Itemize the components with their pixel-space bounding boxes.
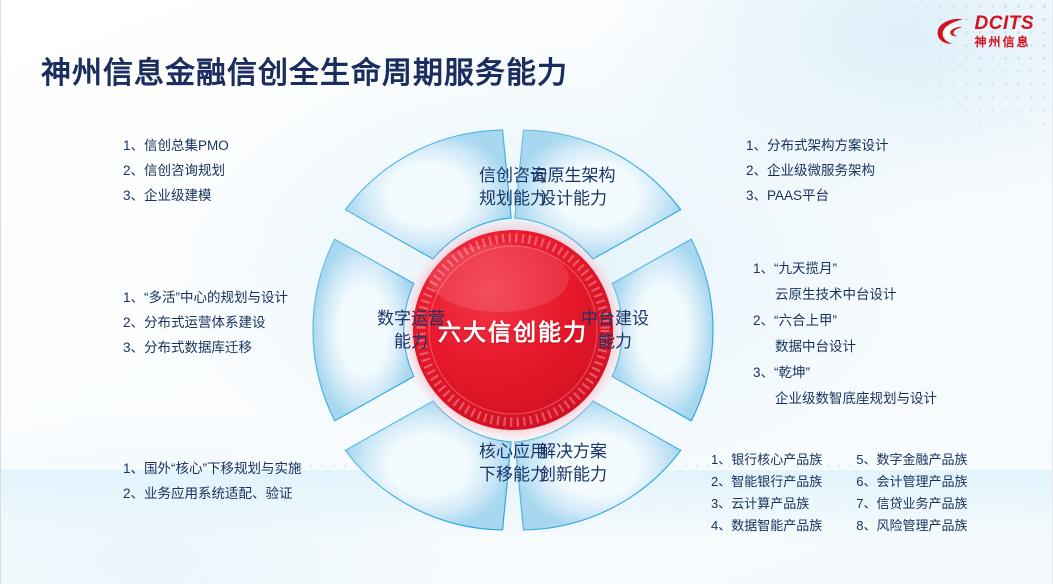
- list-item: 2、“六合上甲”: [753, 308, 937, 334]
- six-capabilities-donut-diagram: 信创咨询 规划能力 云原生架构 设计能力 中台建设 能力 解决方案 创新能力 核…: [303, 120, 723, 540]
- list-item: 2、分布式运营体系建设: [123, 310, 288, 335]
- list-item-sub: 数据中台设计: [753, 334, 937, 360]
- list-item: 7、信贷业务产品族: [856, 493, 967, 515]
- logo-wordmark-cn: 神州信息: [975, 36, 1035, 48]
- dcits-swoosh-icon: [935, 15, 969, 47]
- list-item: 3、企业级建模: [123, 183, 229, 208]
- segment-label-line2: 下移能力: [479, 465, 547, 484]
- list-item: 1、信创总集PMO: [123, 133, 229, 158]
- segment-label-line2: 能力: [598, 332, 632, 351]
- dcits-logo: DCITS 神州信息: [935, 14, 1035, 48]
- list-item: 6、会计管理产品族: [856, 471, 967, 493]
- text-block-top-right: 1、分布式架构方案设计 2、企业级微服务架构 3、PAAS平台: [746, 133, 889, 208]
- list-item-sub: 云原生技术中台设计: [753, 282, 937, 308]
- list-item: 1、“多活”中心的规划与设计: [123, 285, 288, 310]
- list-item: 1、“九天揽月”: [753, 256, 937, 282]
- list-item: 2、信创咨询规划: [123, 158, 229, 183]
- segment-label-cloud-native: 云原生架构 设计能力: [503, 164, 643, 210]
- segment-label-line1: 中台建设: [581, 309, 649, 328]
- list-item: 1、分布式架构方案设计: [746, 133, 889, 158]
- text-block-bottom-right: 1、银行核心产品族 2、智能银行产品族 3、云计算产品族 4、数据智能产品族 5…: [711, 449, 967, 537]
- segment-label-line2: 设计能力: [539, 189, 607, 208]
- list-item: 8、风险管理产品族: [856, 515, 967, 537]
- segment-label-line1: 云原生架构: [531, 166, 616, 185]
- product-family-column-2: 5、数字金融产品族 6、会计管理产品族 7、信贷业务产品族 8、风险管理产品族: [856, 449, 967, 537]
- logo-wordmark-en: DCITS: [975, 14, 1035, 33]
- center-gloss-decoration: [429, 244, 569, 312]
- segment-label-core-app: 核心应用 下移能力: [443, 440, 583, 486]
- list-item: 3、云计算产品族: [711, 493, 822, 515]
- list-item: 4、数据智能产品族: [711, 515, 822, 537]
- text-block-top-left: 1、信创总集PMO 2、信创咨询规划 3、企业级建模: [123, 133, 229, 208]
- list-item-sub: 企业级数智底座规划与设计: [753, 386, 937, 412]
- center-label: 六大信创能力: [438, 313, 588, 347]
- page-title: 神州信息金融信创全生命周期服务能力: [41, 48, 568, 92]
- list-item: 2、业务应用系统适配、验证: [123, 481, 302, 506]
- segment-label-line2: 能力: [394, 332, 428, 351]
- list-item: 2、智能银行产品族: [711, 471, 822, 493]
- slide-canvas: 神州信息金融信创全生命周期服务能力 DCITS 神州信息 1、信创总集PMO 2…: [0, 0, 1053, 584]
- list-item: 1、国外“核心”下移规划与实施: [123, 456, 302, 481]
- list-item: 3、分布式数据库迁移: [123, 335, 288, 360]
- product-family-column-1: 1、银行核心产品族 2、智能银行产品族 3、云计算产品族 4、数据智能产品族: [711, 449, 822, 537]
- list-item: 3、PAAS平台: [746, 183, 889, 208]
- text-block-middle-left: 1、“多活”中心的规划与设计 2、分布式运营体系建设 3、分布式数据库迁移: [123, 285, 288, 360]
- text-block-bottom-left: 1、国外“核心”下移规划与实施 2、业务应用系统适配、验证: [123, 456, 302, 506]
- segment-label-line1: 核心应用: [479, 442, 547, 461]
- list-item: 3、“乾坤”: [753, 360, 937, 386]
- list-item: 2、企业级微服务架构: [746, 158, 889, 183]
- list-item: 5、数字金融产品族: [856, 449, 967, 471]
- list-item: 1、银行核心产品族: [711, 449, 822, 471]
- text-block-middle-right: 1、“九天揽月” 云原生技术中台设计 2、“六合上甲” 数据中台设计 3、“乾坤…: [753, 256, 937, 412]
- segment-label-line1: 数字运营: [377, 309, 445, 328]
